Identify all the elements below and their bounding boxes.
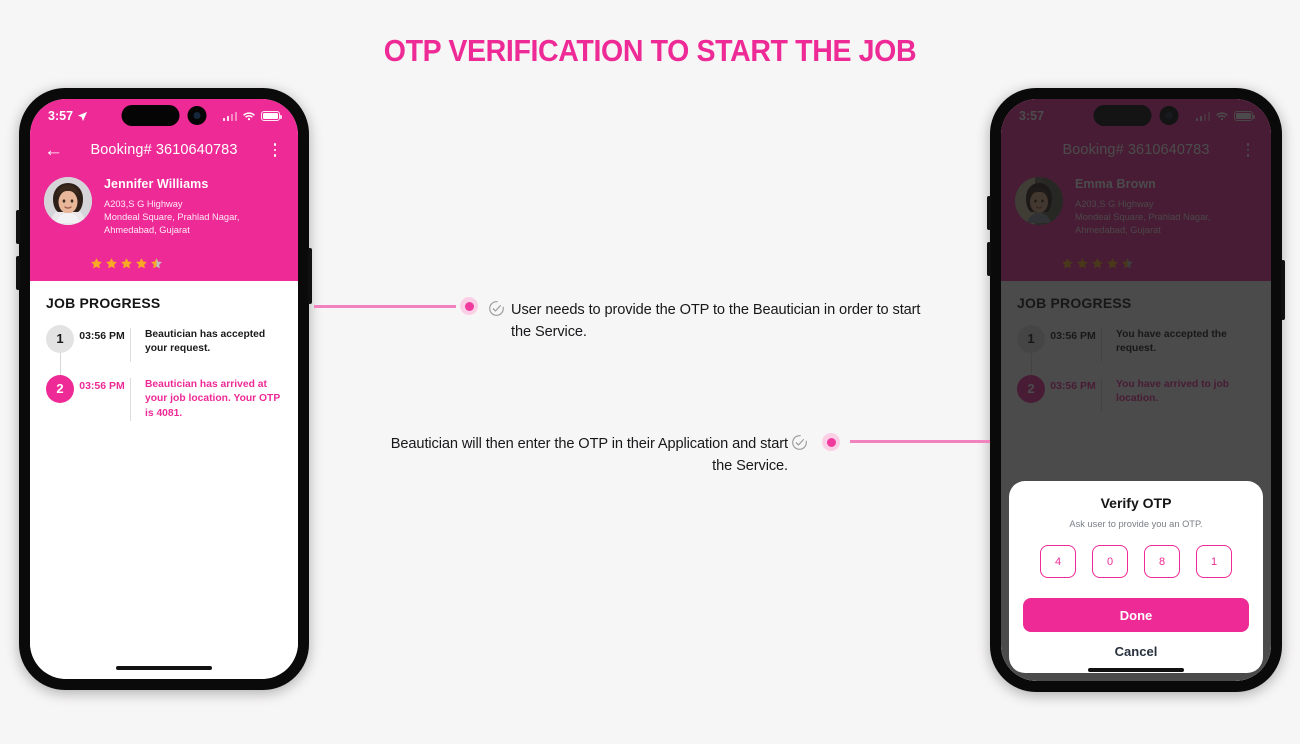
volume-up-button[interactable]: [16, 210, 20, 244]
annotation-text-line-2: the Service.: [511, 322, 991, 344]
otp-input-group: 4 0 8 1: [1023, 545, 1249, 578]
annotation-text-line-1: User needs to provide the OTP to the Bea…: [511, 300, 991, 322]
phone-mockup-customer-app: 3:57 ←: [19, 88, 309, 690]
customer-name: Jennifer Williams: [104, 177, 239, 191]
annotation-text: User needs to provide the OTP to the Bea…: [511, 300, 991, 343]
status-bar-indicators: [223, 111, 281, 122]
step-time: 03:56 PM: [74, 379, 130, 393]
phone-mockup-beautician-app: 3:57 ← Booking# 3610640783: [990, 88, 1282, 692]
step-time: 03:56 PM: [74, 329, 130, 343]
status-bar-left: 3:57: [30, 99, 298, 133]
modal-title: Verify OTP: [1023, 495, 1249, 511]
annotation-text-line-1: Beautician will then enter the OTP in th…: [331, 434, 788, 456]
power-button[interactable]: [1281, 260, 1285, 320]
job-progress-steps: 1 03:56 PM Beautician has accepted your …: [30, 325, 298, 425]
annotation-text: Beautician will then enter the OTP in th…: [331, 434, 788, 477]
back-arrow-icon[interactable]: ←: [44, 141, 62, 160]
volume-up-button[interactable]: [987, 196, 991, 230]
rating-stars: [30, 257, 298, 281]
power-button[interactable]: [308, 248, 312, 304]
home-indicator[interactable]: [1088, 668, 1184, 672]
front-camera-icon: [188, 106, 207, 125]
overflow-menu-icon[interactable]: [266, 143, 284, 156]
location-arrow-icon: [77, 111, 88, 122]
volume-down-button[interactable]: [16, 256, 20, 290]
booking-number-title: Booking# 3610640783: [62, 142, 266, 158]
job-progress-step-2: 2 03:56 PM Beautician has arrived at you…: [30, 375, 298, 425]
cancel-button[interactable]: Cancel: [1023, 644, 1249, 659]
otp-digit-3[interactable]: 8: [1144, 545, 1180, 578]
home-indicator[interactable]: [116, 666, 212, 670]
done-button[interactable]: Done: [1023, 598, 1249, 632]
step-message: Beautician has accepted your request.: [130, 328, 282, 362]
annotation-connector-line: [314, 305, 456, 308]
phone-screen-right: 3:57 ← Booking# 3610640783: [1001, 99, 1271, 681]
otp-digit-4[interactable]: 1: [1196, 545, 1232, 578]
step-number-badge: 2: [46, 375, 74, 403]
check-circle-icon: [791, 434, 808, 451]
job-progress-step-1: 1 03:56 PM Beautician has accepted your …: [30, 325, 298, 375]
star-icon-full: [120, 257, 133, 270]
customer-profile-section: Jennifer Williams A203,S G Highway Monde…: [30, 167, 298, 281]
verify-otp-modal: Verify OTP Ask user to provide you an OT…: [1009, 481, 1263, 673]
status-bar-time-group: 3:57: [48, 109, 88, 123]
annotation-text-line-2: the Service.: [331, 456, 788, 478]
profile-row: Jennifer Williams A203,S G Highway Monde…: [30, 167, 298, 250]
address-line-3: Ahmedabad, Gujarat: [104, 224, 239, 237]
check-circle-icon: [488, 300, 505, 317]
cellular-signal-icon: [223, 112, 238, 121]
step-message: Beautician has arrived at your job locat…: [130, 378, 282, 422]
pink-dot-marker: [460, 297, 478, 315]
star-icon-full: [135, 257, 148, 270]
status-time: 3:57: [48, 109, 73, 123]
avatar: [44, 177, 92, 225]
step-number-badge: 1: [46, 325, 74, 353]
volume-down-button[interactable]: [987, 242, 991, 276]
dynamic-island: [122, 105, 207, 126]
annotation-connector-line: [850, 440, 990, 443]
star-icon-full: [105, 257, 118, 270]
otp-digit-1[interactable]: 4: [1040, 545, 1076, 578]
phone-screen-left: 3:57 ←: [30, 99, 298, 679]
page-title: OTP VERIFICATION TO START THE JOB: [52, 33, 1248, 69]
dynamic-island-pill: [122, 105, 180, 126]
profile-details: Jennifer Williams A203,S G Highway Monde…: [104, 177, 239, 238]
star-icon-full: [90, 257, 103, 270]
job-progress-heading: JOB PROGRESS: [30, 295, 298, 311]
job-progress-section-left: JOB PROGRESS 1 03:56 PM Beautician has a…: [30, 281, 298, 679]
otp-digit-2[interactable]: 0: [1092, 545, 1128, 578]
modal-subtitle: Ask user to provide you an OTP.: [1023, 519, 1249, 529]
app-bar-left: ← Booking# 3610640783: [30, 133, 298, 167]
wifi-icon: [242, 111, 256, 122]
customer-address: A203,S G Highway Mondeal Square, Prahlad…: [104, 198, 239, 238]
address-line-1: A203,S G Highway: [104, 198, 239, 211]
star-icon-half: [150, 257, 163, 270]
address-line-2: Mondeal Square, Prahlad Nagar,: [104, 211, 239, 224]
battery-icon: [261, 111, 280, 121]
screenshot-canvas: OTP VERIFICATION TO START THE JOB 3:57: [0, 0, 1300, 744]
avatar-photo: [44, 177, 92, 225]
pink-dot-marker: [822, 433, 840, 451]
